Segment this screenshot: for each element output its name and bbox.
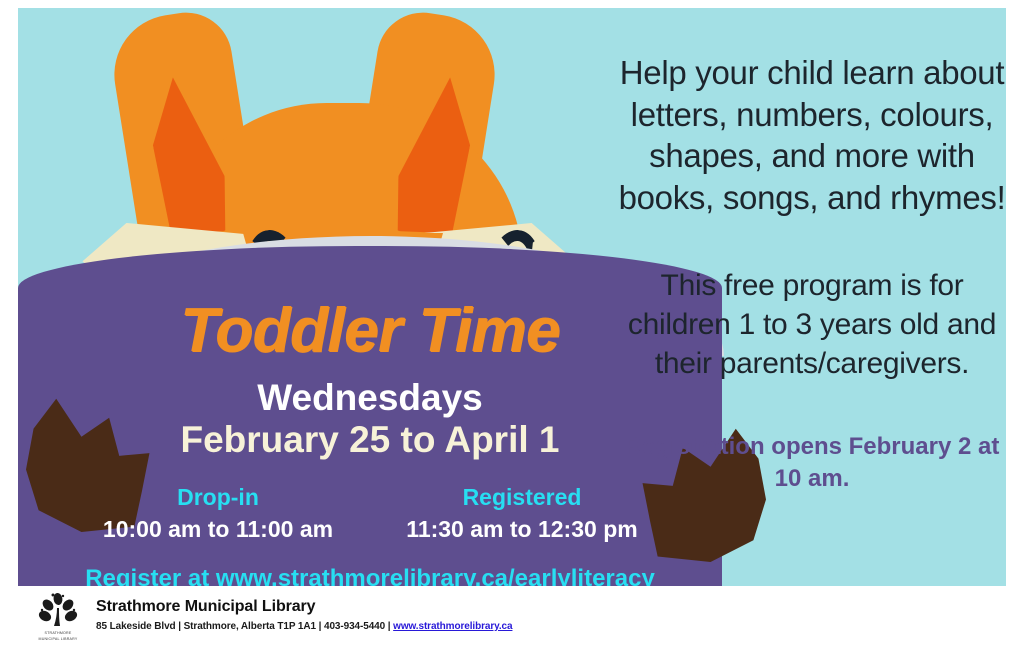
footer-text: Strathmore Municipal Library 85 Lakeside… xyxy=(96,590,512,632)
footer: STRATHMORE MUNICIPAL LIBRARY Strathmore … xyxy=(18,590,1006,652)
book-text-block: Toddler Time Wednesdays February 25 to A… xyxy=(18,298,722,586)
tree-logo-icon: STRATHMORE MUNICIPAL LIBRARY xyxy=(34,592,82,644)
program-blurb: Help your child learn about letters, num… xyxy=(618,52,1006,218)
program-eligibility: This free program is for children 1 to 3… xyxy=(618,266,1006,383)
register-link[interactable]: Register at www.strathmorelibrary.ca/ear… xyxy=(18,565,722,586)
registration-note: Registration opens February 2 at 10 am. xyxy=(618,431,1006,493)
session-label: Drop-in xyxy=(66,482,370,513)
session-time: 11:30 am to 12:30 pm xyxy=(370,513,674,545)
program-day: Wednesdays xyxy=(18,377,722,418)
right-text-column: Help your child learn about letters, num… xyxy=(618,52,1006,494)
address-text: 85 Lakeside Blvd | Strathmore, Alberta T… xyxy=(96,621,393,632)
library-name: Strathmore Municipal Library xyxy=(96,598,512,616)
poster-canvas: Toddler Time Wednesdays February 25 to A… xyxy=(18,8,1006,586)
logo-caption: STRATHMORE MUNICIPAL LIBRARY xyxy=(34,631,82,642)
page-title: Toddler Time xyxy=(18,298,722,363)
session-list: Drop-in 10:00 am to 11:00 am Registered … xyxy=(18,482,722,545)
session-item-drop-in: Drop-in 10:00 am to 11:00 am xyxy=(66,482,370,545)
session-time: 10:00 am to 11:00 am xyxy=(66,513,370,545)
program-date-range: February 25 to April 1 xyxy=(18,419,722,460)
poster-page: Toddler Time Wednesdays February 25 to A… xyxy=(0,0,1024,661)
library-address: 85 Lakeside Blvd | Strathmore, Alberta T… xyxy=(96,621,512,632)
library-website-link[interactable]: www.strathmorelibrary.ca xyxy=(393,621,512,632)
